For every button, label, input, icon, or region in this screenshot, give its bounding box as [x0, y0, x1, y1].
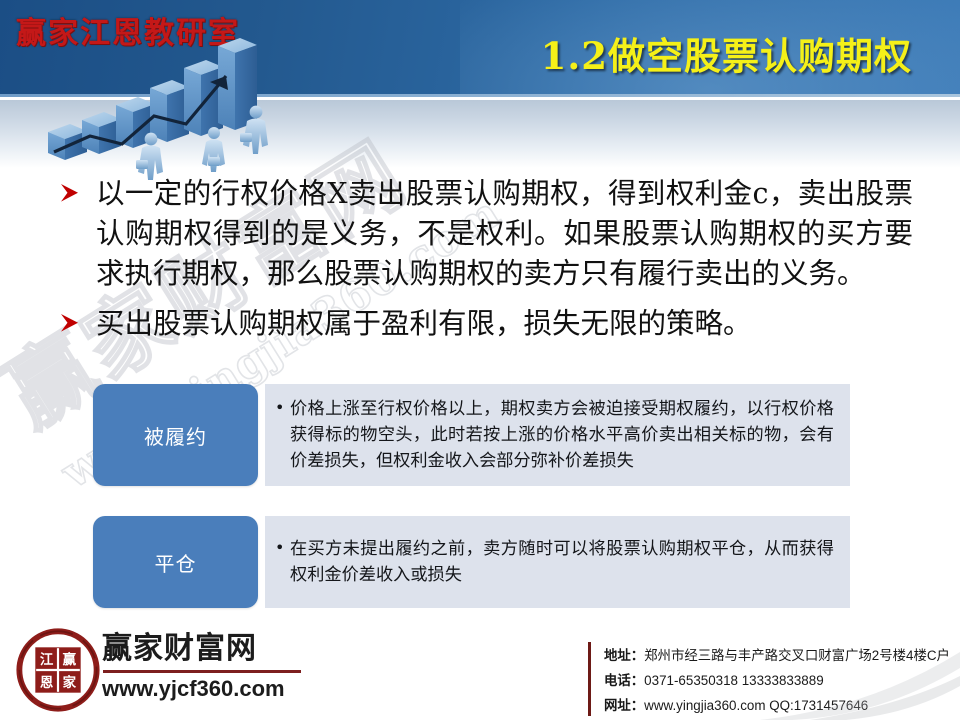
- contact-phone: 电话：0371-65350318 13333833889: [604, 668, 960, 693]
- diagram-list-item: 在买方未提出履约之前，卖方随时可以将股票认购期权平仓，从而获得权利金价差收入或损…: [275, 536, 834, 588]
- footer-brand-url: www.yjcf360.com: [102, 676, 302, 702]
- footer-contact: 地址：郑州市经三路与丰产路交叉口财富广场2号楼4楼C户 电话：0371-6535…: [604, 643, 960, 718]
- svg-text:家: 家: [63, 674, 77, 691]
- contact-address: 地址：郑州市经三路与丰产路交叉口财富广场2号楼4楼C户: [604, 643, 960, 668]
- contact-address-label: 地址：: [604, 648, 644, 663]
- brand-stamp-text: 赢家江恩教研室: [16, 8, 240, 52]
- contact-website: 网址：www.yingjia360.com QQ:1731457646: [604, 693, 960, 718]
- diagram-row-content: 在买方未提出履约之前，卖方随时可以将股票认购期权平仓，从而获得权利金价差收入或损…: [265, 516, 850, 608]
- header-gradient-band: [0, 100, 960, 168]
- svg-text:恩: 恩: [40, 675, 54, 691]
- contact-website-label: 网址：: [604, 698, 644, 713]
- header-banner: 赢家江恩教研室 1.2做空股票认购期权: [0, 0, 960, 97]
- bullet-item: 以一定的行权价格X卖出股票认购期权，得到权利金c，卖出股票认购期权得到的是义务，…: [0, 174, 960, 294]
- diagram-row-label[interactable]: 被履约: [93, 384, 258, 486]
- diagram-list-item: 价格上涨至行权价格以上，期权卖方会被迫接受期权履约，以行权价格获得标的物空头，此…: [275, 396, 834, 474]
- svg-text:赢: 赢: [63, 651, 77, 668]
- contact-phone-value: 0371-65350318 13333833889: [644, 673, 823, 688]
- footer: 江 赢 恩 家 赢家财富网 www.yjcf360.com 地址：郑州市经三路与…: [0, 618, 960, 720]
- diagram-row-content: 价格上涨至行权价格以上，期权卖方会被迫接受期权履约，以行权价格获得标的物空头，此…: [265, 384, 850, 486]
- diagram-row: 平仓 在买方未提出履约之前，卖方随时可以将股票认购期权平仓，从而获得权利金价差收…: [0, 516, 960, 608]
- diagram-row-label[interactable]: 平仓: [93, 516, 258, 608]
- footer-brand: 赢家财富网 www.yjcf360.com: [102, 631, 302, 702]
- contact-website-value: www.yingjia360.com QQ:1731457646: [644, 698, 868, 713]
- footer-brand-rule: [103, 670, 301, 673]
- diagram-row: 被履约 价格上涨至行权价格以上，期权卖方会被迫接受期权履约，以行权价格获得标的物…: [0, 384, 960, 486]
- bullet-text: 买出股票认购期权属于盈利有限，损失无限的策略。: [58, 304, 752, 344]
- slide-root: 赢家江恩教研室 1.2做空股票认购期权: [0, 0, 960, 720]
- bullet-item: 买出股票认购期权属于盈利有限，损失无限的策略。: [0, 304, 960, 344]
- bullet-text: 以一定的行权价格X卖出股票认购期权，得到权利金c，卖出股票认购期权得到的是义务，…: [58, 174, 913, 294]
- diagram: 被履约 价格上涨至行权价格以上，期权卖方会被迫接受期权履约，以行权价格获得标的物…: [0, 384, 960, 638]
- footer-divider: [588, 642, 591, 716]
- contact-address-value: 郑州市经三路与丰产路交叉口财富广场2号楼4楼C户: [644, 648, 950, 663]
- svg-text:江: 江: [40, 651, 54, 668]
- contact-phone-label: 电话：: [604, 673, 644, 688]
- arrow-bullet-icon: [58, 310, 84, 336]
- page-title: 1.2做空股票认购期权: [541, 26, 912, 80]
- footer-brand-name: 赢家财富网: [102, 631, 302, 667]
- arrow-bullet-icon: [58, 180, 84, 206]
- red-seal-stamp-icon: 江 赢 恩 家: [16, 628, 100, 712]
